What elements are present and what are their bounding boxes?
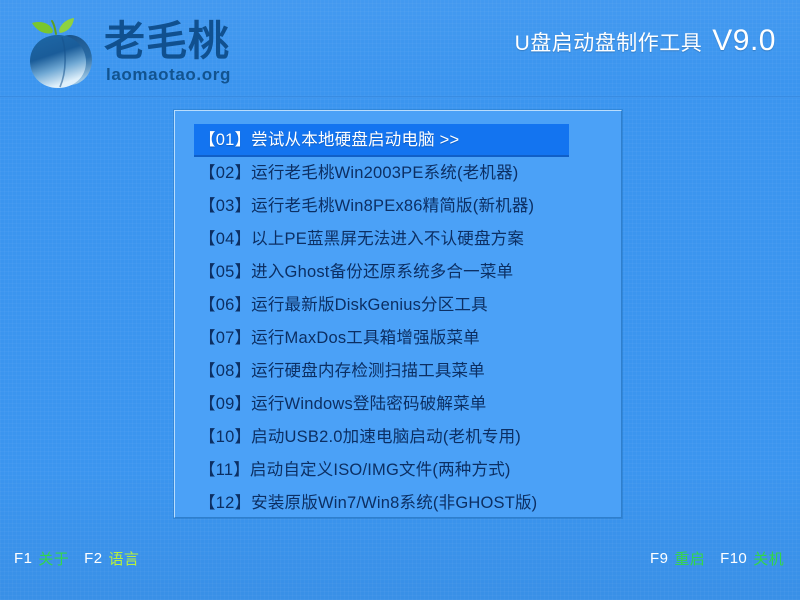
footer-hint-key: F10 [720,550,747,567]
footer-hint-key: F9 [650,550,668,567]
menu-item-04[interactable]: 【04】以上PE蓝黑屏无法进入不认硬盘方案 [175,223,623,256]
menu-item-label: 【04】以上PE蓝黑屏无法进入不认硬盘方案 [199,223,524,256]
menu-item-01[interactable]: 【01】尝试从本地硬盘启动电脑 >> [194,124,569,157]
app-title-version: V9.0 [712,24,776,58]
footer-hint-label: 语言 [108,548,139,569]
menu-item-11[interactable]: 【11】启动自定义ISO/IMG文件(两种方式) [175,454,623,487]
menu-item-label: 【08】运行硬盘内存检测扫描工具菜单 [199,355,485,388]
header-divider [0,96,800,98]
menu-item-label: 【01】尝试从本地硬盘启动电脑 >> [199,124,459,157]
menu-item-label: 【06】运行最新版DiskGenius分区工具 [199,289,488,322]
footer-hint-f1[interactable]: F1关于 [14,548,69,569]
footer-hint-key: F1 [14,550,32,567]
menu-item-label: 【11】启动自定义ISO/IMG文件(两种方式) [199,454,511,487]
menu-item-07[interactable]: 【07】运行MaxDos工具箱增强版菜单 [175,322,623,355]
menu-item-label: 【05】进入Ghost备份还原系统多合一菜单 [199,256,513,289]
menu-item-label: 【02】运行老毛桃Win2003PE系统(老机器) [199,157,518,190]
menu-item-label: 【10】启动USB2.0加速电脑启动(老机专用) [199,421,521,454]
footer-hint-label: 关机 [753,548,784,569]
footer-hint-f9[interactable]: F9重启 [650,548,705,569]
boot-menu-screen: 老毛桃 laomaotao.org U盘启动盘制作工具 V9.0 【01】尝试从… [0,0,800,600]
menu-item-10[interactable]: 【10】启动USB2.0加速电脑启动(老机专用) [175,421,623,454]
app-title: U盘启动盘制作工具 V9.0 [515,24,776,68]
menu-item-03[interactable]: 【03】运行老毛桃Win8PEx86精简版(新机器) [175,190,623,223]
footer-hints-right: F9重启F10关机 [650,548,784,569]
menu-item-label: 【03】运行老毛桃Win8PEx86精简版(新机器) [199,190,534,223]
menu-item-label: 【12】安装原版Win7/Win8系统(非GHOST版) [199,487,537,520]
boot-menu-panel: 【01】尝试从本地硬盘启动电脑 >>【02】运行老毛桃Win2003PE系统(老… [174,110,622,518]
menu-item-label: 【09】运行Windows登陆密码破解菜单 [199,388,487,421]
menu-item-06[interactable]: 【06】运行最新版DiskGenius分区工具 [175,289,623,322]
menu-item-label: 【07】运行MaxDos工具箱增强版菜单 [199,322,480,355]
peach-logo-icon [22,16,102,90]
boot-menu-list: 【01】尝试从本地硬盘启动电脑 >>【02】运行老毛桃Win2003PE系统(老… [175,124,623,520]
menu-item-09[interactable]: 【09】运行Windows登陆密码破解菜单 [175,388,623,421]
footer-hints-left: F1关于F2语言 [14,548,139,569]
menu-item-12[interactable]: 【12】安装原版Win7/Win8系统(非GHOST版) [175,487,623,520]
footer-hints: F1关于F2语言 F9重启F10关机 [0,548,800,580]
header-bar: 老毛桃 laomaotao.org U盘启动盘制作工具 V9.0 [0,0,800,97]
logo-url: laomaotao.org [106,65,231,85]
logo-wordmark: 老毛桃 [104,18,232,64]
app-title-main: U盘启动盘制作工具 [515,27,703,57]
footer-hint-f10[interactable]: F10关机 [720,548,784,569]
footer-hint-label: 重启 [674,548,705,569]
brand-logo: 老毛桃 laomaotao.org [22,10,232,90]
menu-item-08[interactable]: 【08】运行硬盘内存检测扫描工具菜单 [175,355,623,388]
footer-hint-f2[interactable]: F2语言 [84,548,139,569]
footer-hint-key: F2 [84,550,102,567]
footer-hint-label: 关于 [38,548,69,569]
menu-item-02[interactable]: 【02】运行老毛桃Win2003PE系统(老机器) [175,157,623,190]
menu-item-05[interactable]: 【05】进入Ghost备份还原系统多合一菜单 [175,256,623,289]
